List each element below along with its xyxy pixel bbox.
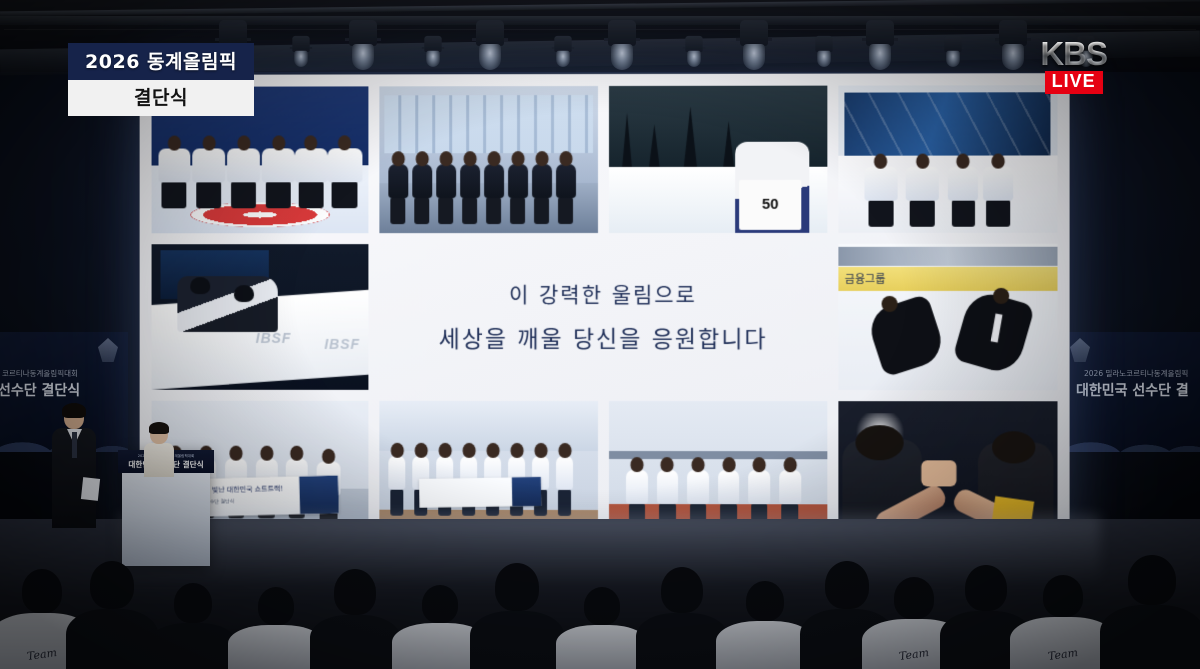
stage-light-icon — [552, 36, 574, 68]
venue-banner-right-title: 대한민국 선수단 결 — [1076, 380, 1189, 400]
program-title-line2: 결단식 — [134, 87, 188, 109]
slide-message-line1: 이 강력한 울림으로 — [509, 279, 697, 309]
audience-member — [470, 565, 564, 669]
program-title-line2-bar: 결단식 — [68, 80, 254, 116]
kbs-logo: KBS — [1040, 38, 1107, 69]
program-title-line1: 2026 동계올림픽 — [85, 51, 237, 73]
photo-biathlon-athlete: 50 — [608, 86, 827, 233]
audience-member — [556, 597, 648, 669]
venue-banner-right: 2026 밀라노코르티나동계올림픽 대한민국 선수단 결 — [1062, 332, 1200, 452]
broadcast-frame: 코르티나동계올림픽대회 선수단 결단식 2026 밀라노코르티나동계올림픽 대한… — [0, 0, 1200, 669]
stage-light-icon — [422, 36, 444, 68]
stage-light-icon — [472, 20, 508, 72]
stage-light-icon — [683, 36, 705, 68]
stage-light-icon — [942, 36, 964, 68]
stage-light-icon — [736, 20, 772, 72]
truss-upper — [0, 0, 1200, 16]
bobsled-sponsor-text-2: IBSF — [324, 336, 360, 352]
audience-member — [636, 571, 728, 669]
audience-member — [66, 563, 158, 669]
live-badge: LIVE — [1045, 71, 1103, 94]
slide-message: 이 강력한 울림으로 세상을 깨울 당신을 응원합니다 — [380, 244, 827, 391]
biathlon-bib-number: 50 — [740, 180, 801, 230]
stage-light-icon — [995, 20, 1031, 72]
venue-banner-right-subtitle: 2026 밀라노코르티나동계올림픽 — [1084, 368, 1188, 379]
olympic-emblem-icon — [98, 338, 118, 362]
audience: Team Team Team — [0, 509, 1200, 669]
speaker-at-podium — [142, 424, 176, 476]
venue-banner-left-title: 선수단 결단식 — [0, 380, 80, 400]
stage-light-icon — [290, 36, 312, 68]
photo-indoor-track-group — [380, 86, 598, 233]
audience-member — [1100, 559, 1200, 669]
program-title-line1-bar: 2026 동계올림픽 — [68, 43, 254, 80]
stage-light-icon — [345, 20, 381, 72]
presentation-screen: 50 IBSF — [140, 73, 1070, 561]
airport-banner — [419, 476, 541, 507]
rink-board-text: 금융그룹 — [845, 271, 886, 287]
network-bug: KBS LIVE — [1040, 38, 1107, 94]
photo-figure-skating-pair: 금융그룹 — [838, 243, 1057, 390]
audience-member — [310, 573, 400, 669]
audience-member — [150, 587, 236, 669]
slide-message-line2: 세상을 깨울 당신을 응원합니다 — [439, 320, 768, 354]
program-title-lockup: 2026 동계올림픽 결단식 — [68, 43, 254, 116]
mountain-graphic — [1062, 424, 1200, 452]
stage-light-icon — [862, 20, 898, 72]
bobsled-sponsor-text: IBSF — [256, 330, 292, 346]
stage-light-icon — [604, 20, 640, 72]
photo-collage-grid: 50 IBSF — [152, 85, 1058, 549]
photo-bobsled-run: IBSF IBSF — [152, 244, 369, 390]
stage-light-icon — [813, 36, 835, 68]
photo-white-jacket-team — [838, 85, 1057, 232]
olympic-emblem-icon — [1070, 338, 1090, 362]
venue-banner-left-subtitle: 코르티나동계올림픽대회 — [2, 368, 78, 379]
